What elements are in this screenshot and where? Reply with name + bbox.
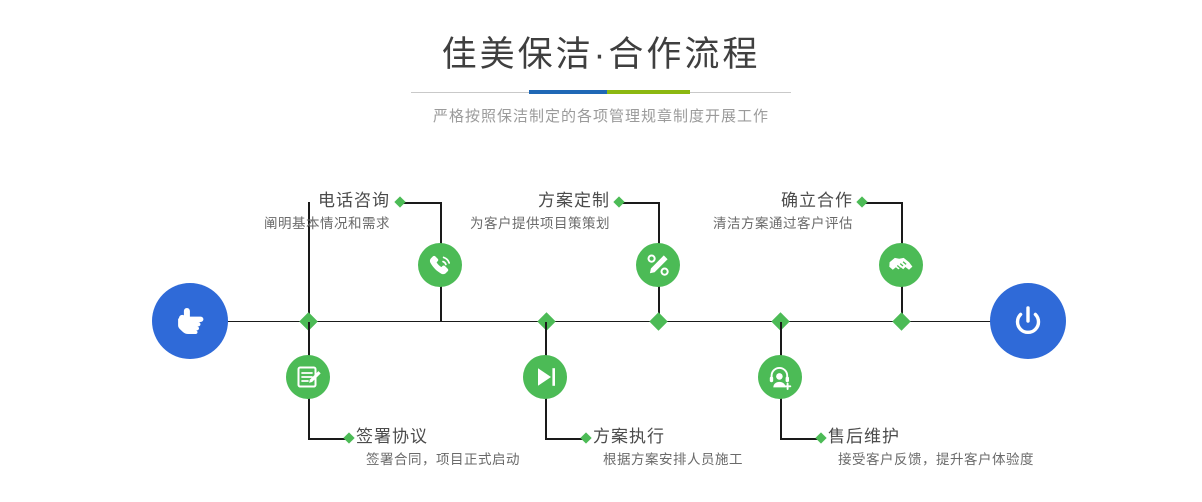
step-icon-step-1[interactable] (418, 243, 462, 287)
divider-segment-green (607, 90, 690, 94)
diagram-header: 佳美保洁·合作流程 严格按照保洁制定的各项管理规章制度开展工作 (0, 34, 1202, 126)
label-marker-step-2 (343, 432, 354, 443)
connector-arm-step-5 (862, 202, 902, 204)
step-label-step-6: 售后维护 接受客户反馈，提升客户体验度 (828, 426, 1148, 470)
step-title: 方案定制 (370, 190, 610, 211)
connector-arm-step-2 (308, 438, 348, 440)
step-label-step-1: 电话咨询 阐明基本情况和需求 (150, 190, 390, 234)
step-title: 售后维护 (828, 426, 1148, 447)
step-icon-step-2[interactable] (286, 355, 330, 399)
step-icon-step-5[interactable] (879, 243, 923, 287)
connector-arm-step-4 (545, 438, 585, 440)
timeline-start-node[interactable] (152, 283, 228, 359)
label-marker-step-5 (856, 196, 867, 207)
step-desc: 接受客户反馈，提升客户体验度 (828, 450, 1148, 470)
step-label-step-2: 签署协议 签署合同，项目正式启动 (356, 426, 616, 470)
step-desc: 清洁方案通过客户评估 (613, 214, 853, 234)
page-title: 佳美保洁·合作流程 (0, 34, 1202, 76)
step-icon-step-4[interactable] (523, 355, 567, 399)
step-icon-step-3[interactable] (636, 243, 680, 287)
step-title: 确立合作 (613, 190, 853, 211)
divider-segment-blue (529, 90, 607, 94)
step-title: 电话咨询 (150, 190, 390, 211)
connector-arm-step-6 (780, 438, 820, 440)
step-label-step-3: 方案定制 为客户提供项目策策划 (370, 190, 610, 234)
title-divider (411, 90, 791, 94)
step-desc: 阐明基本情况和需求 (150, 214, 390, 234)
step-title: 签署协议 (356, 426, 616, 447)
step-icon-step-6[interactable] (758, 355, 802, 399)
flow-diagram: 佳美保洁·合作流程 严格按照保洁制定的各项管理规章制度开展工作 (0, 0, 1202, 502)
step-label-step-5: 确立合作 清洁方案通过客户评估 (613, 190, 853, 234)
timeline-end-node[interactable] (990, 283, 1066, 359)
step-desc: 为客户提供项目策策划 (370, 214, 610, 234)
step-desc: 签署合同，项目正式启动 (356, 450, 616, 470)
timeline-marker-step-3b (649, 312, 667, 330)
page-subtitle: 严格按照保洁制定的各项管理规章制度开展工作 (0, 105, 1202, 126)
timeline-marker-step-5 (892, 312, 910, 330)
